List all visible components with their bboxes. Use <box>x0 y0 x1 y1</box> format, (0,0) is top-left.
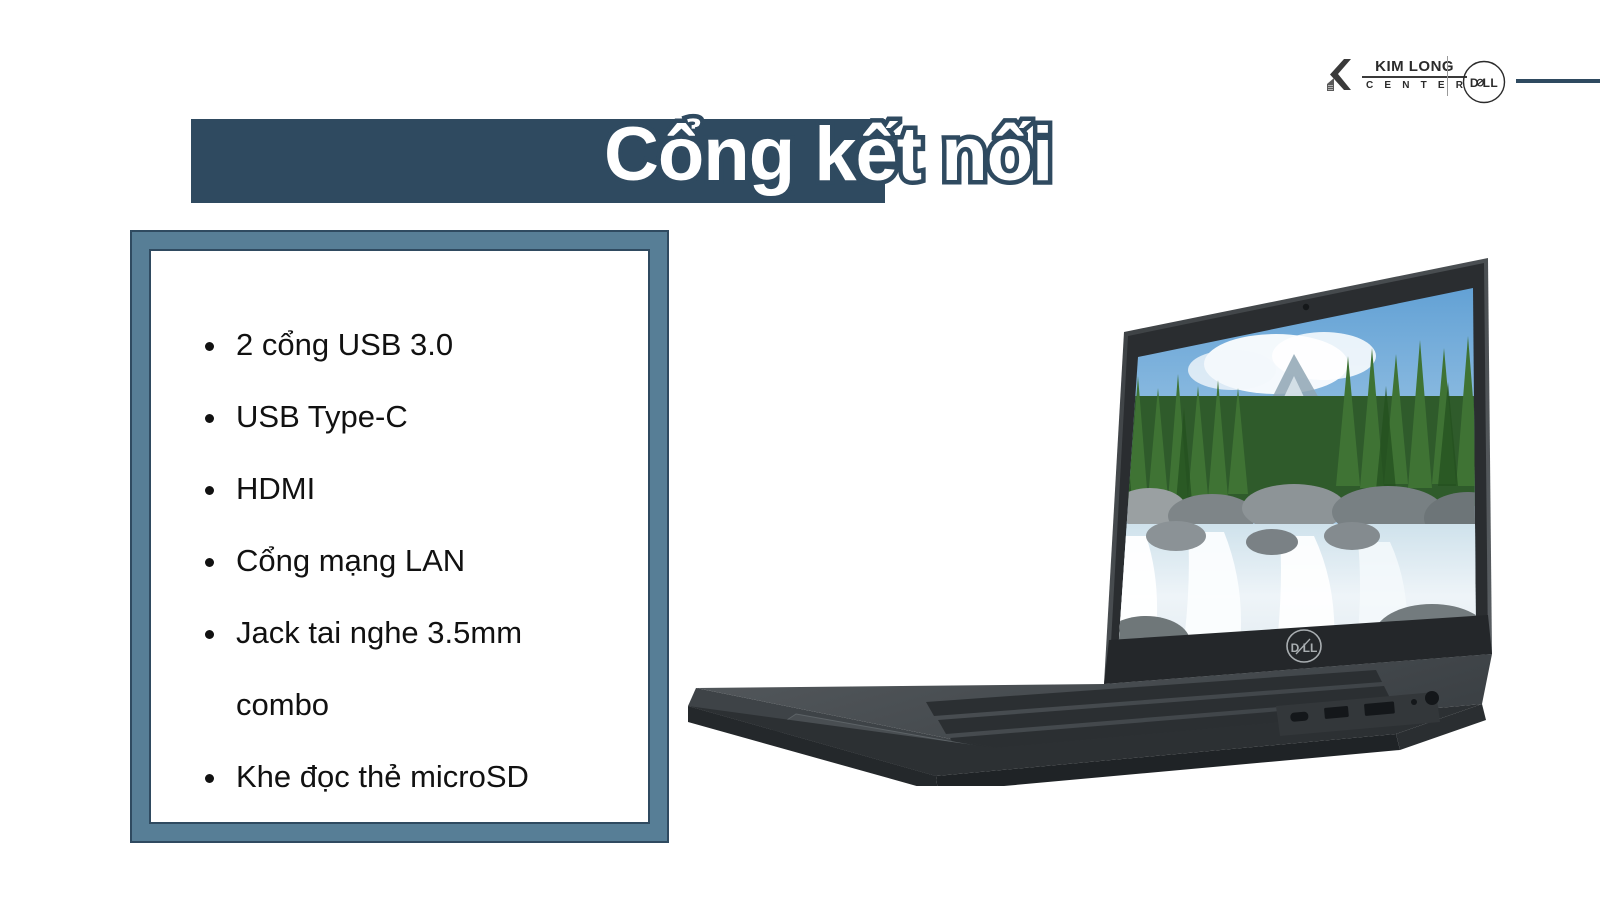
kim-long-arrow-icon <box>1325 58 1355 92</box>
list-item: USB Type-C <box>175 381 624 453</box>
connectivity-port-list: 2 cổng USB 3.0 USB Type-C HDMI Cổng mạng… <box>175 309 624 813</box>
list-item: HDMI <box>175 453 624 525</box>
dell-laptop-product-image: D LL <box>676 236 1566 786</box>
connectivity-spec-inner: 2 cổng USB 3.0 USB Type-C HDMI Cổng mạng… <box>149 249 650 824</box>
svg-text:D LL: D LL <box>1470 76 1498 90</box>
kim-long-center-wordmark: KIM LONG C E N T E R <box>1362 59 1467 91</box>
svg-text:D LL: D LL <box>1291 641 1318 655</box>
list-item: Jack tai nghe 3.5mm combo <box>175 597 624 741</box>
page-title: Cổng kết nối <box>604 107 1504 203</box>
kim-long-center-subtitle: C E N T E R <box>1362 78 1467 91</box>
usb-a-port-icon <box>1324 706 1349 719</box>
list-item: 2 cổng USB 3.0 <box>175 309 624 381</box>
list-item: Cổng mạng LAN <box>175 525 624 597</box>
webcam-icon <box>1303 304 1309 310</box>
list-item: Khe đọc thẻ microSD <box>175 741 624 813</box>
header-accent-rule <box>1516 79 1600 83</box>
headphone-jack-icon <box>1425 691 1439 705</box>
laptop-lid: D LL <box>1096 258 1512 694</box>
dell-circle-logo-icon: D LL <box>1462 60 1506 104</box>
kim-long-name: KIM LONG <box>1362 59 1467 76</box>
status-led-icon <box>1411 699 1417 705</box>
kim-long-center-logo: KIM LONG C E N T E R <box>1325 58 1467 92</box>
brand-separator <box>1447 56 1448 96</box>
connectivity-spec-panel: 2 cổng USB 3.0 USB Type-C HDMI Cổng mạng… <box>130 230 669 843</box>
usb-type-c-port-icon <box>1290 711 1309 722</box>
